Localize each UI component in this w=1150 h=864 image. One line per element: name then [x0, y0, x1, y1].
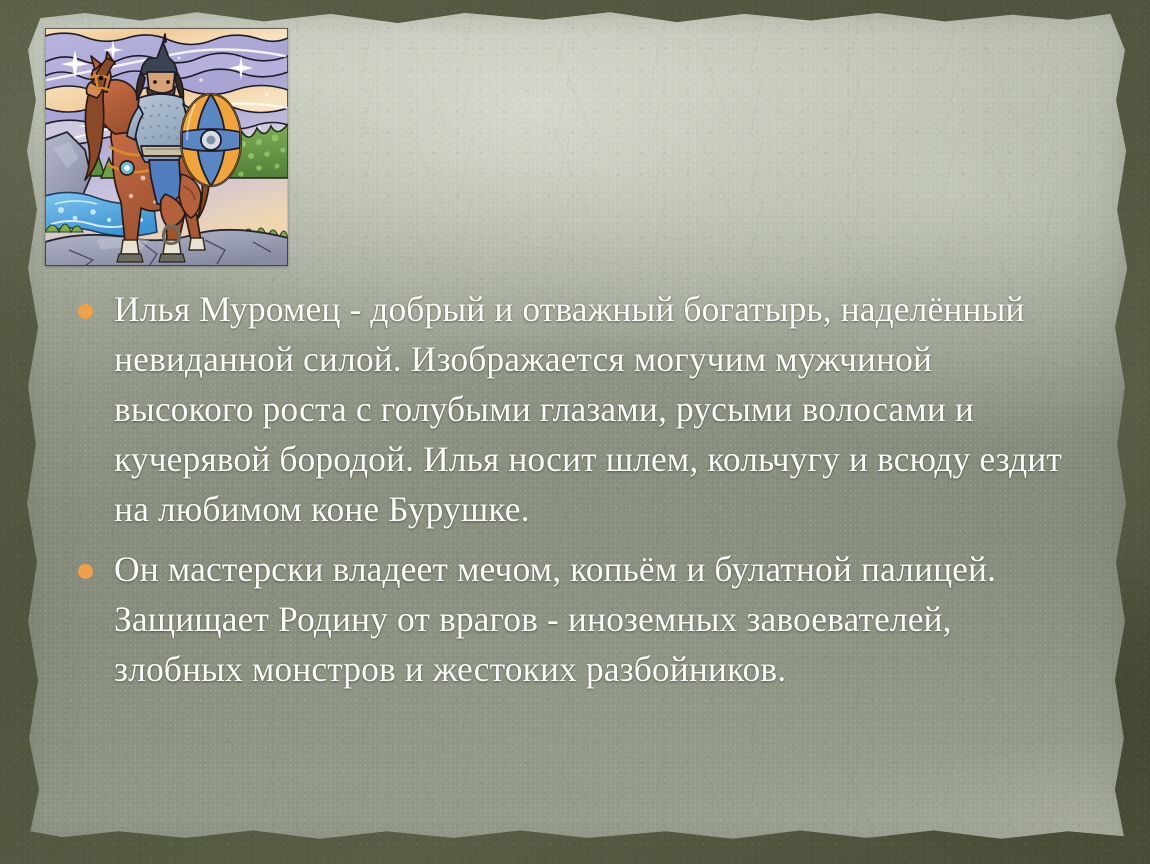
slide-content: Илья Муромец - добрый и отважный богатыр…: [0, 0, 1150, 864]
bogatyr-horse-artwork: [45, 28, 288, 266]
list-item[interactable]: Он мастерски владеет мечом, копьём и бул…: [78, 544, 1078, 694]
round-bullet-icon: [78, 304, 93, 319]
list-item[interactable]: Илья Муромец - добрый и отважный богатыр…: [78, 284, 1078, 534]
ilya-muromets-illustration: [45, 28, 288, 266]
presentation-slide: Илья Муромец - добрый и отважный богатыр…: [0, 0, 1150, 864]
bullet-paragraph-1: Илья Муромец - добрый и отважный богатыр…: [114, 284, 1078, 534]
round-shield: [181, 94, 241, 186]
bullet-paragraph-2: Он мастерски владеет мечом, копьём и бул…: [114, 544, 1078, 694]
bullet-list: Илья Муромец - добрый и отважный богатыр…: [78, 284, 1078, 704]
round-bullet-icon: [78, 564, 93, 579]
